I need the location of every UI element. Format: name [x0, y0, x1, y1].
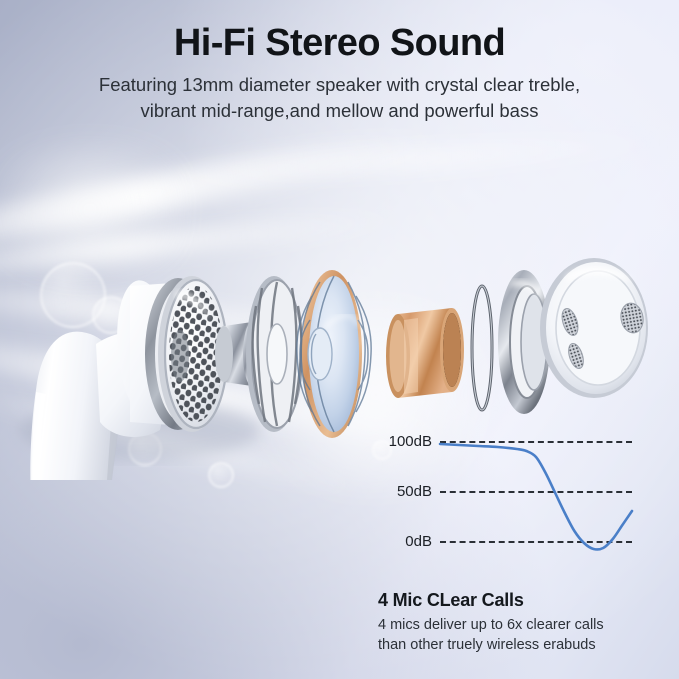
feature-title: 4 Mic CLear Calls — [378, 590, 524, 611]
feature-desc-line-2: than other truely wireless erabuds — [378, 635, 604, 655]
exploded-earbud-assembly: L — [0, 130, 679, 480]
outer-housing-cup — [540, 258, 648, 398]
thin-wire-ring — [472, 286, 492, 410]
product-marketing-image: L — [0, 0, 679, 679]
subtitle-line-1: Featuring 13mm diameter speaker with cry… — [0, 72, 679, 98]
subtitle-line-2: vibrant mid-range,and mellow and powerfu… — [0, 98, 679, 124]
blue-diaphragm — [297, 270, 371, 438]
page-title: Hi-Fi Stereo Sound — [0, 24, 679, 64]
magnet-core — [171, 330, 189, 382]
spoke-ring — [246, 276, 302, 432]
frequency-response-chart: 100dB 50dB 0dB — [360, 432, 650, 562]
page-subtitle: Featuring 13mm diameter speaker with cry… — [0, 72, 679, 125]
frequency-response-curve — [440, 444, 632, 549]
feature-description: 4 mics deliver up to 6x clearer calls th… — [378, 615, 604, 655]
earbud-illustration: L — [0, 130, 679, 480]
feature-desc-line-1: 4 mics deliver up to 6x clearer calls — [378, 615, 604, 635]
copper-voice-coil — [386, 308, 464, 398]
response-curve-svg — [360, 432, 650, 562]
